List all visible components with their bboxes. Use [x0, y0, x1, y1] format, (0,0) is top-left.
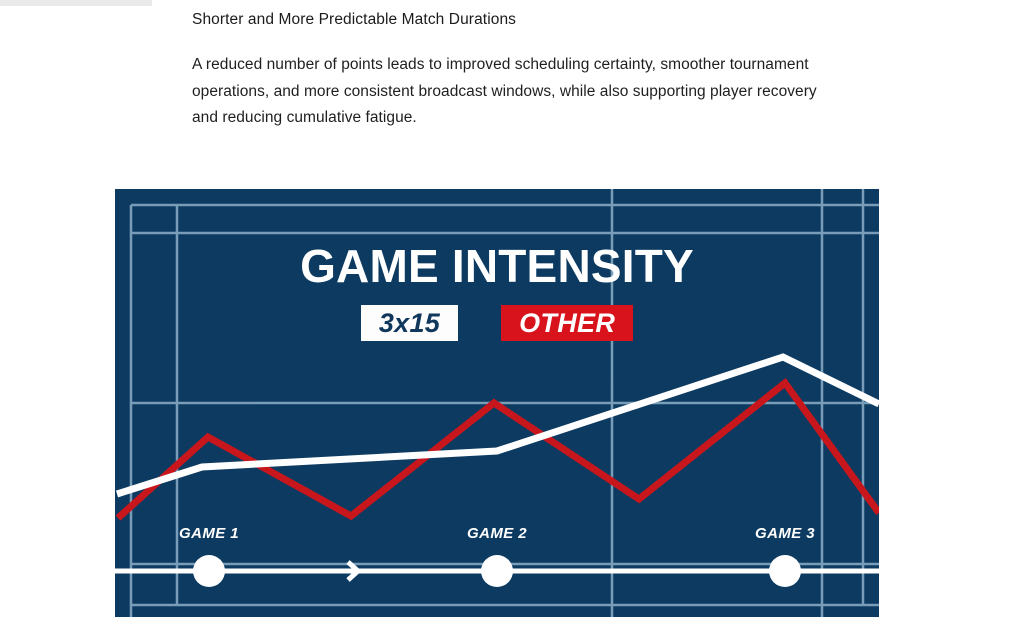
article-heading: Shorter and More Predictable Match Durat…	[192, 8, 852, 32]
game-label-2: GAME 2	[467, 526, 527, 542]
game-dot-2[interactable]	[481, 555, 513, 587]
game-label-1: GAME 1	[179, 526, 239, 542]
game-label-3: GAME 3	[755, 526, 815, 542]
article-paragraph: A reduced number of points leads to impr…	[192, 32, 838, 132]
game-dot-1[interactable]	[193, 555, 225, 587]
game-intensity-infographic: GAME INTENSITY 3x15 OTHER GAME 1 GAME 2 …	[115, 189, 879, 617]
page-root: Shorter and More Predictable Match Durat…	[0, 0, 1024, 633]
article-text-block: Shorter and More Predictable Match Durat…	[192, 8, 852, 132]
game-dot-3[interactable]	[769, 555, 801, 587]
series-line-3x15	[117, 357, 879, 494]
intensity-line-chart	[115, 189, 879, 617]
page-edge-strip	[0, 0, 152, 6]
